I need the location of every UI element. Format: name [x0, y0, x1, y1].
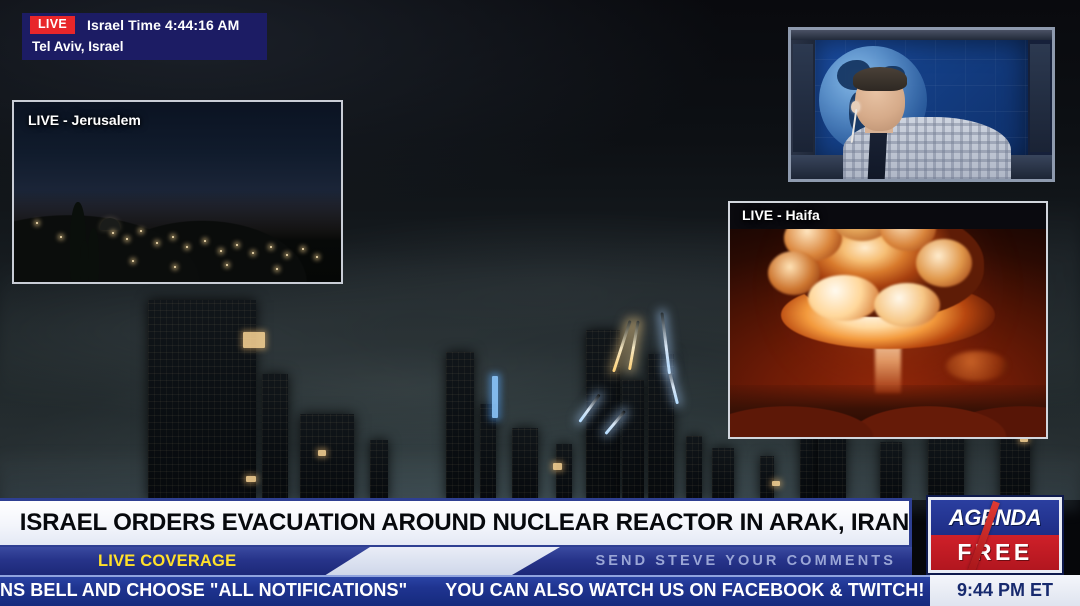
ticker-top-line [0, 575, 1080, 577]
ticker-content: NS BELL AND CHOOSE "ALL NOTIFICATIONS" Y… [0, 580, 1080, 601]
broadcast-clock: 9:44 PM ET [930, 575, 1080, 606]
studio-side-panel [1030, 44, 1050, 152]
live-window-jerusalem[interactable]: LIVE - Jerusalem [12, 100, 343, 284]
ticker-segment: NS BELL AND CHOOSE "ALL NOTIFICATIONS" [0, 580, 407, 601]
logo-bottom-half: FREE [931, 535, 1059, 570]
studio-top-trim [791, 30, 1052, 40]
agenda-free-logo: AGENDA FREE [928, 497, 1062, 573]
live-window-haifa[interactable]: LIVE - Haifa [728, 201, 1048, 439]
headline-banner: ISRAEL ORDERS EVACUATION AROUND NUCLEAR … [0, 498, 912, 547]
send-comments-tag: SEND STEVE YOUR COMMENTS [512, 547, 912, 575]
studio-side-panel [793, 44, 813, 152]
location-label: Tel Aviv, Israel [22, 39, 267, 54]
sub-banner: LIVE COVERAGE SEND STEVE YOUR COMMENTS [0, 547, 912, 575]
light-streak [628, 320, 640, 370]
logo-bottom-word: FREE [957, 539, 1032, 566]
tree [80, 240, 89, 280]
logo-frame: AGENDA FREE [928, 497, 1062, 573]
time-location-overlay: LIVE Israel Time 4:44:16 AM Tel Aviv, Is… [22, 13, 267, 60]
news-ticker: NS BELL AND CHOOSE "ALL NOTIFICATIONS" Y… [0, 575, 1080, 606]
live-coverage-tag: LIVE COVERAGE [0, 547, 370, 575]
anchor-video-window[interactable] [788, 27, 1055, 182]
time-row: LIVE Israel Time 4:44:16 AM [22, 13, 267, 37]
ticker-segment: YOU CAN ALSO WATCH US ON FACEBOOK & TWIT… [445, 580, 924, 601]
israel-time-label: Israel Time 4:44:16 AM [87, 17, 239, 33]
broadcast-stage: LIVE Israel Time 4:44:16 AM Tel Aviv, Is… [0, 0, 1080, 606]
headline-text: ISRAEL ORDERS EVACUATION AROUND NUCLEAR … [0, 509, 909, 537]
anchor-hair [853, 67, 907, 91]
mushroom-cloud-image [730, 229, 1046, 437]
live-window-label-haifa: LIVE - Haifa [742, 207, 820, 223]
tree [88, 228, 99, 280]
send-comments-label: SEND STEVE YOUR COMMENTS [595, 553, 912, 569]
clock-label: 9:44 PM ET [957, 580, 1053, 601]
live-badge: LIVE [30, 16, 75, 34]
live-coverage-label: LIVE COVERAGE [0, 552, 236, 571]
live-window-label-jerusalem: LIVE - Jerusalem [28, 112, 141, 128]
